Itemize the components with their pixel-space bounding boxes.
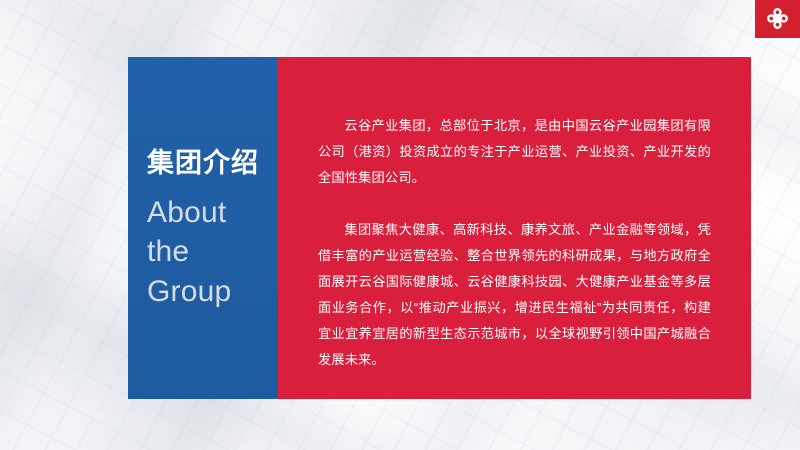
slide-canvas: 集团介绍 About the Group 云谷产业集团，总部位于北京，是由中国云… bbox=[0, 0, 800, 450]
left-title-group: 集团介绍 About the Group bbox=[147, 149, 272, 311]
page-title-en-line-2: the bbox=[147, 232, 272, 272]
left-title-panel: 集团介绍 About the Group bbox=[128, 57, 278, 399]
page-title-en-line-3: Group bbox=[147, 272, 272, 312]
clover-flower-logo-icon bbox=[765, 7, 790, 32]
paragraph: 集团聚焦大健康、高新科技、康养文旅、产业金融等领域，凭借丰富的产业运营经验、整合… bbox=[318, 217, 711, 373]
body-copy: 云谷产业集团，总部位于北京，是由中国云谷产业园集团有限公司（港资）投资成立的专注… bbox=[318, 113, 711, 373]
page-title-en: About the Group bbox=[147, 193, 272, 312]
company-logo bbox=[755, 0, 800, 38]
page-title-en-line-1: About bbox=[147, 193, 272, 233]
page-title-cn: 集团介绍 bbox=[147, 149, 272, 179]
paragraph: 云谷产业集团，总部位于北京，是由中国云谷产业园集团有限公司（港资）投资成立的专注… bbox=[318, 113, 711, 191]
right-content-panel: 云谷产业集团，总部位于北京，是由中国云谷产业园集团有限公司（港资）投资成立的专注… bbox=[278, 57, 751, 399]
